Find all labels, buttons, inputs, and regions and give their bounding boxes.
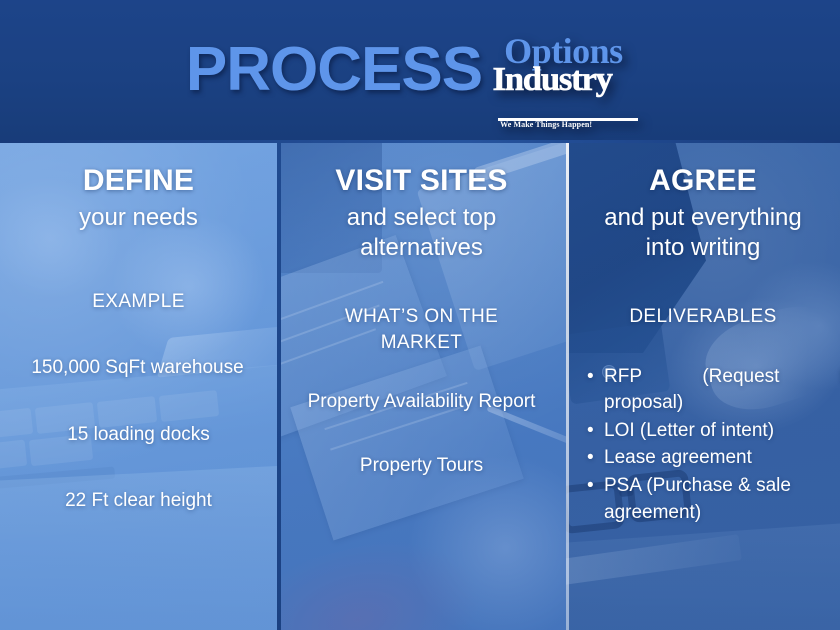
logo-word-industry: Industry bbox=[493, 63, 652, 97]
visit-heading: VISIT SITES bbox=[277, 165, 566, 197]
visit-item-0: Property Availability Report bbox=[277, 389, 566, 415]
bullet-2-text: Lease agreement bbox=[604, 447, 752, 468]
page-title: PROCESS bbox=[186, 39, 482, 101]
agree-heading: AGREE bbox=[566, 165, 840, 197]
define-section-label: EXAMPLE bbox=[0, 289, 277, 315]
visit-content: VISIT SITES and select top alternatives … bbox=[277, 143, 566, 630]
list-item: Lease agreement bbox=[604, 445, 840, 472]
process-step-agree: AGREE and put everything into writing DE… bbox=[566, 143, 840, 630]
bullet-3-wrap: agreement) bbox=[604, 502, 701, 523]
header-inner: PROCESS Options Industry We Make Things … bbox=[0, 0, 840, 143]
define-heading: DEFINE bbox=[0, 165, 277, 197]
define-item-0: 150,000 SqFt warehouse bbox=[0, 355, 277, 381]
process-slide: PROCESS Options Industry We Make Things … bbox=[0, 0, 840, 630]
process-columns: DEFINE your needs EXAMPLE 150,000 SqFt w… bbox=[0, 143, 840, 630]
slide-header: PROCESS Options Industry We Make Things … bbox=[0, 0, 840, 143]
define-item-2: 22 Ft clear height bbox=[0, 488, 277, 514]
define-content: DEFINE your needs EXAMPLE 150,000 SqFt w… bbox=[0, 143, 277, 630]
logo-word-industry-wrap: Industry We Make Things Happen! bbox=[494, 63, 650, 97]
agree-content: AGREE and put everything into writing DE… bbox=[566, 143, 840, 630]
list-item: RFP (Request for proposal) bbox=[604, 364, 840, 417]
bullet-1-text: LOI (Letter of intent) bbox=[604, 420, 774, 441]
bullet-0-mid: (Request bbox=[702, 364, 779, 391]
agree-subheading: and put everything into writing bbox=[566, 203, 840, 264]
process-step-define: DEFINE your needs EXAMPLE 150,000 SqFt w… bbox=[0, 143, 277, 630]
define-item-1: 15 loading docks bbox=[0, 422, 277, 448]
visit-item-1: Property Tours bbox=[277, 453, 566, 479]
bullet-3-lead: PSA (Purchase & sale bbox=[604, 475, 791, 496]
list-item: PSA (Purchase & sale agreement) bbox=[604, 473, 840, 526]
visit-subheading: and select top alternatives bbox=[277, 203, 566, 264]
column-separator-2 bbox=[566, 143, 569, 630]
agree-section-label: DELIVERABLES bbox=[566, 304, 840, 330]
deliverables-list: RFP (Request for proposal) LOI (Letter o… bbox=[566, 364, 840, 527]
options-industry-logo: Options Industry We Make Things Happen! bbox=[494, 37, 654, 111]
bullet-0-justified-row: RFP (Request for bbox=[604, 364, 840, 391]
define-subheading: your needs bbox=[0, 203, 277, 234]
bullet-0-wrap: proposal) bbox=[604, 392, 683, 413]
process-step-visit-sites: VISIT SITES and select top alternatives … bbox=[277, 143, 566, 630]
column-separator-1 bbox=[277, 143, 281, 630]
visit-section-label: WHAT’S ON THE MARKET bbox=[277, 304, 566, 355]
bullet-0-lead: RFP bbox=[604, 364, 642, 391]
logo-tagline: We Make Things Happen! bbox=[500, 121, 592, 129]
list-item: LOI (Letter of intent) bbox=[604, 418, 840, 445]
